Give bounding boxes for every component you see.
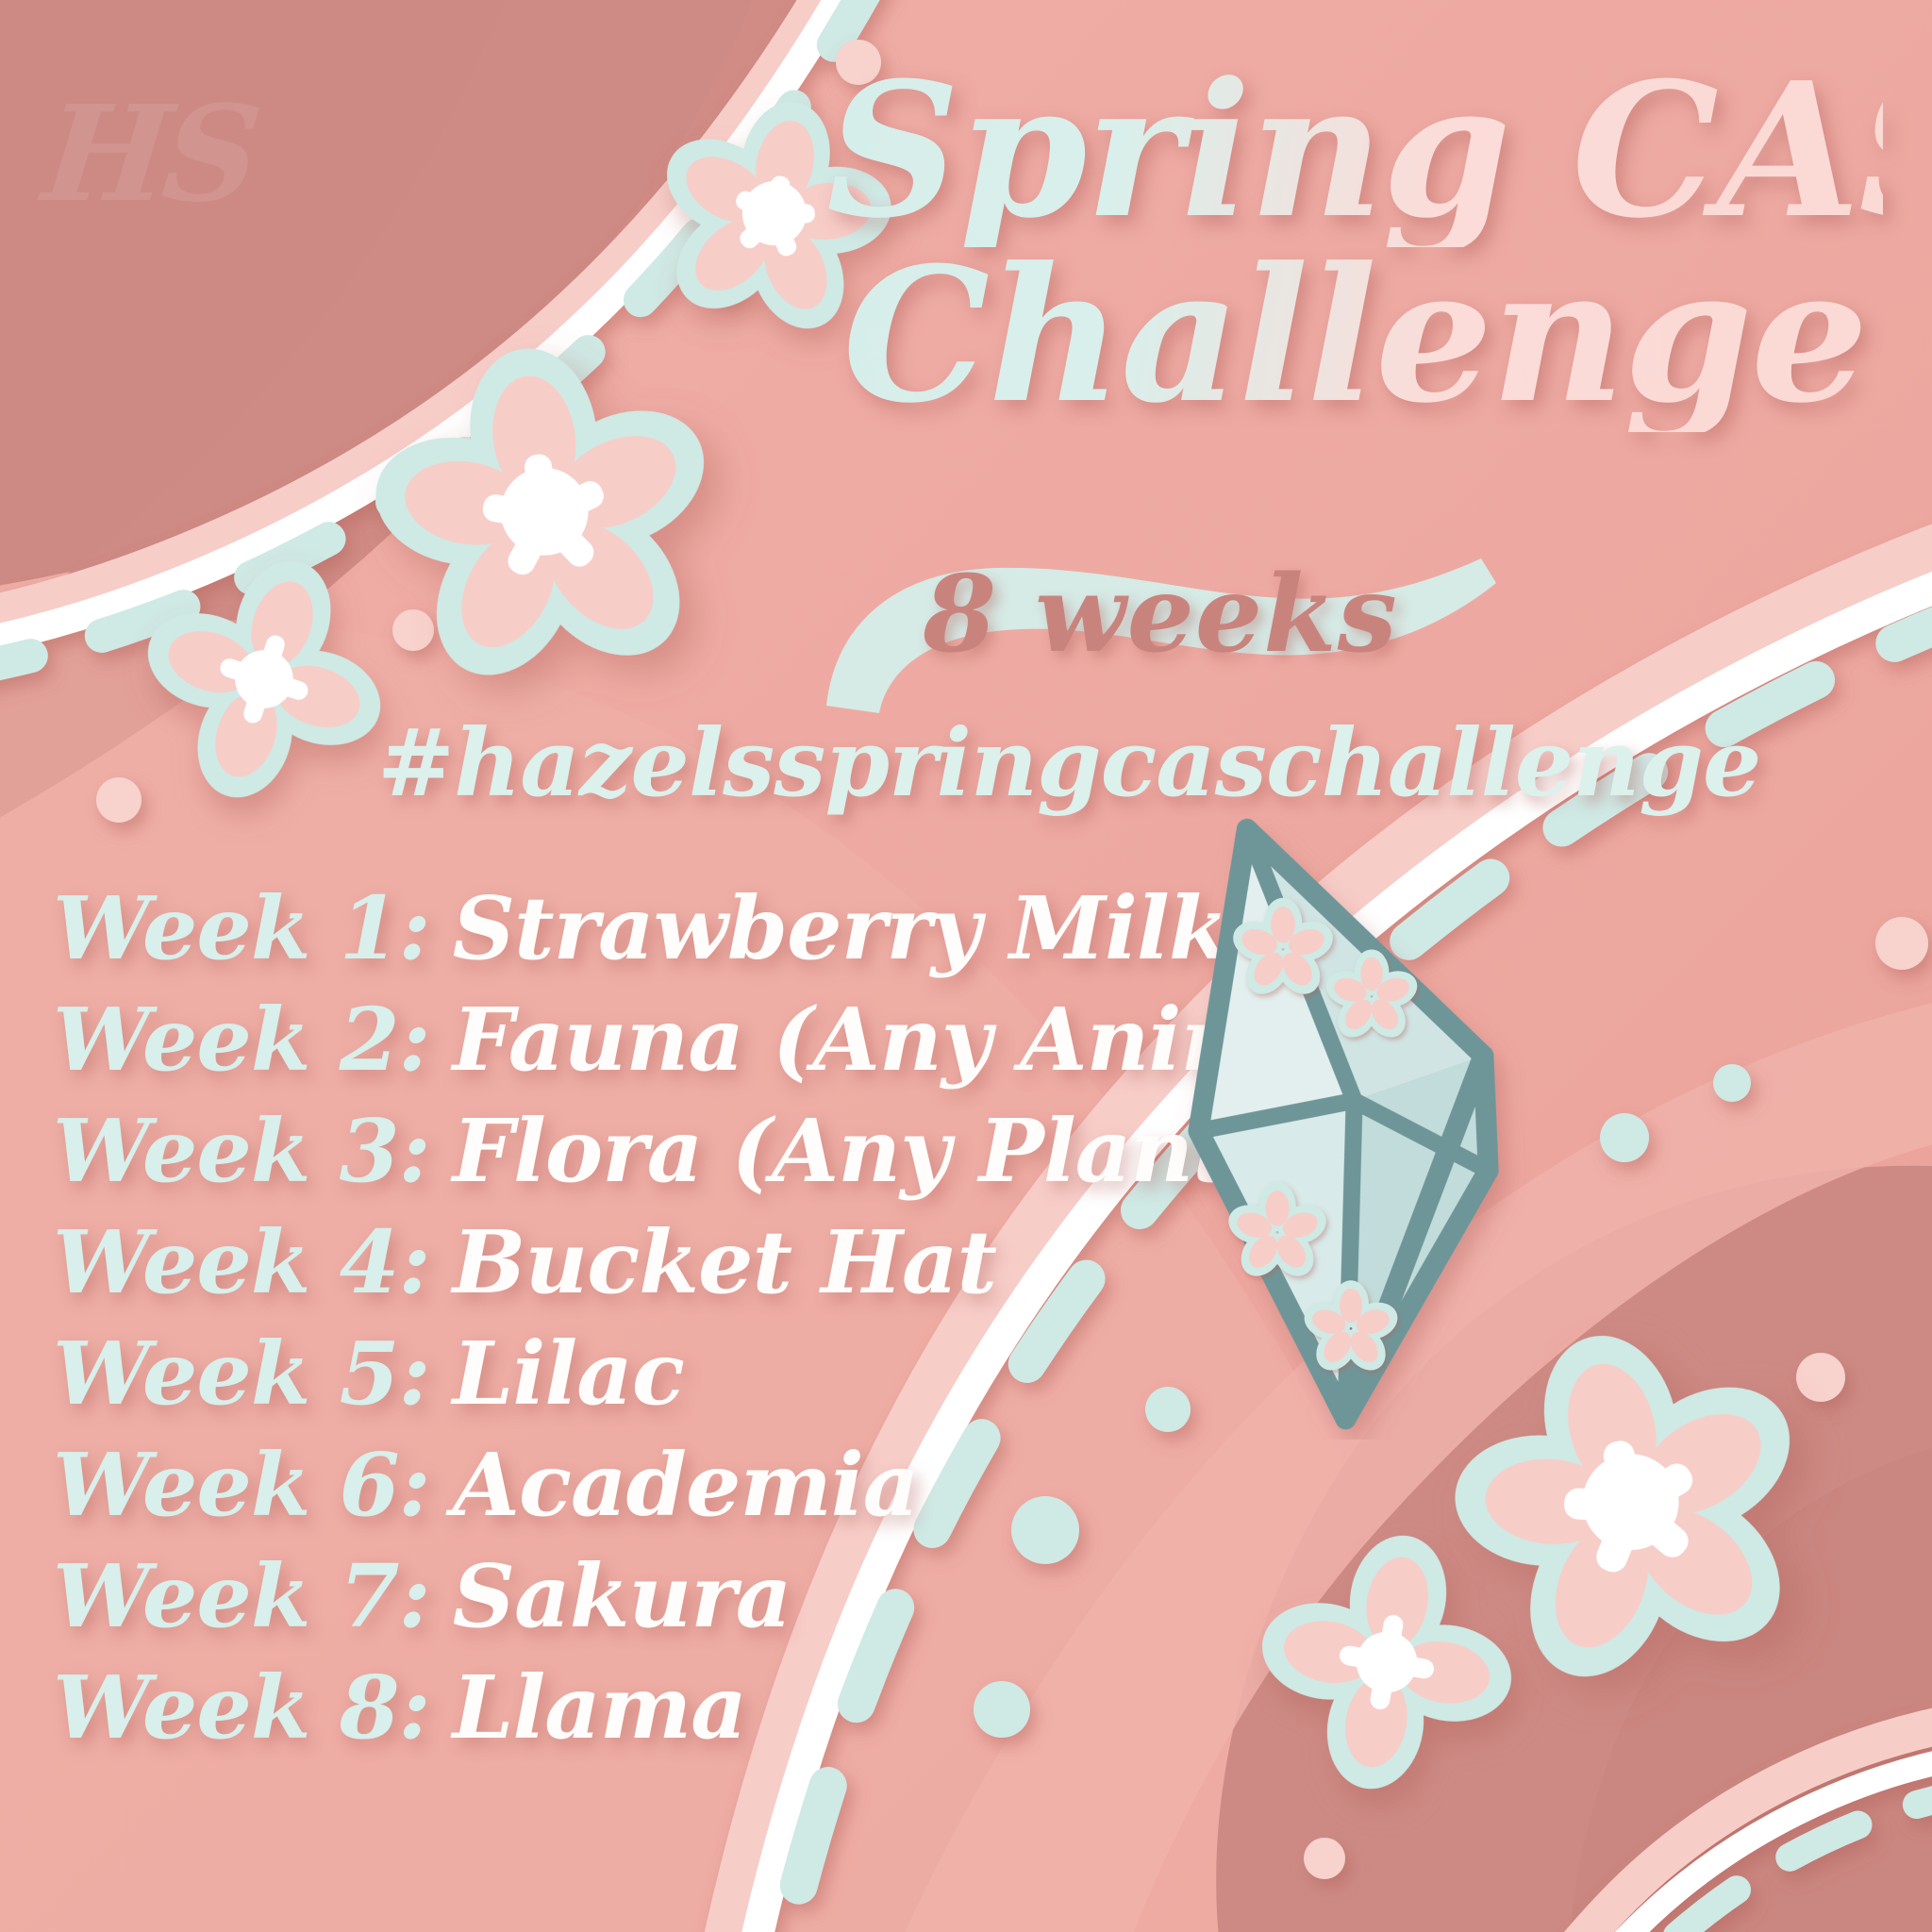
poster-canvas: HS Spring CAS Challenge 8 weeks #hazelss… [0, 0, 1932, 1932]
week-label: Week 5: [53, 1323, 430, 1424]
week-theme: Lilac [453, 1323, 684, 1424]
week-theme: Llama [453, 1657, 746, 1758]
list-item: Week 4: Bucket Hat [53, 1211, 1185, 1323]
headline-block: Spring CAS Challenge [826, 57, 1883, 432]
list-item: Week 6: Academia [53, 1434, 1185, 1545]
hashtag-text: #hazelsspringcaschallenge [377, 709, 1415, 818]
week-theme: Fauna (Any Animal) [453, 989, 1399, 1091]
duration-badge: 8 weeks [821, 545, 1500, 724]
list-item: Week 5: Lilac [53, 1323, 1185, 1434]
week-challenge-list: Week 1: Strawberry Milk Week 2: Fauna (A… [53, 877, 1185, 1768]
list-item: Week 8: Llama [53, 1657, 1185, 1768]
page-title-line-1: Spring CAS [826, 57, 1883, 247]
week-label: Week 3: [53, 1100, 430, 1202]
list-item: Week 7: Sakura [53, 1545, 1185, 1657]
week-theme: Bucket Hat [453, 1211, 997, 1313]
list-item: Week 2: Fauna (Any Animal) [53, 989, 1185, 1100]
week-theme: Flora (Any Plant) [453, 1100, 1273, 1202]
list-item: Week 3: Flora (Any Plant) [53, 1100, 1185, 1211]
week-label: Week 7: [53, 1545, 430, 1647]
week-label: Week 6: [53, 1434, 430, 1536]
week-theme: Sakura [453, 1545, 791, 1647]
week-label: Week 1: [53, 877, 430, 979]
week-theme: Academia [453, 1434, 919, 1536]
week-label: Week 8: [53, 1657, 430, 1758]
page-title-line-2: Challenge [826, 241, 1883, 432]
list-item: Week 1: Strawberry Milk [53, 877, 1185, 989]
duration-label: 8 weeks [821, 553, 1500, 676]
week-label: Week 4: [53, 1211, 430, 1313]
week-theme: Strawberry Milk [453, 877, 1228, 979]
week-label: Week 2: [53, 989, 430, 1091]
